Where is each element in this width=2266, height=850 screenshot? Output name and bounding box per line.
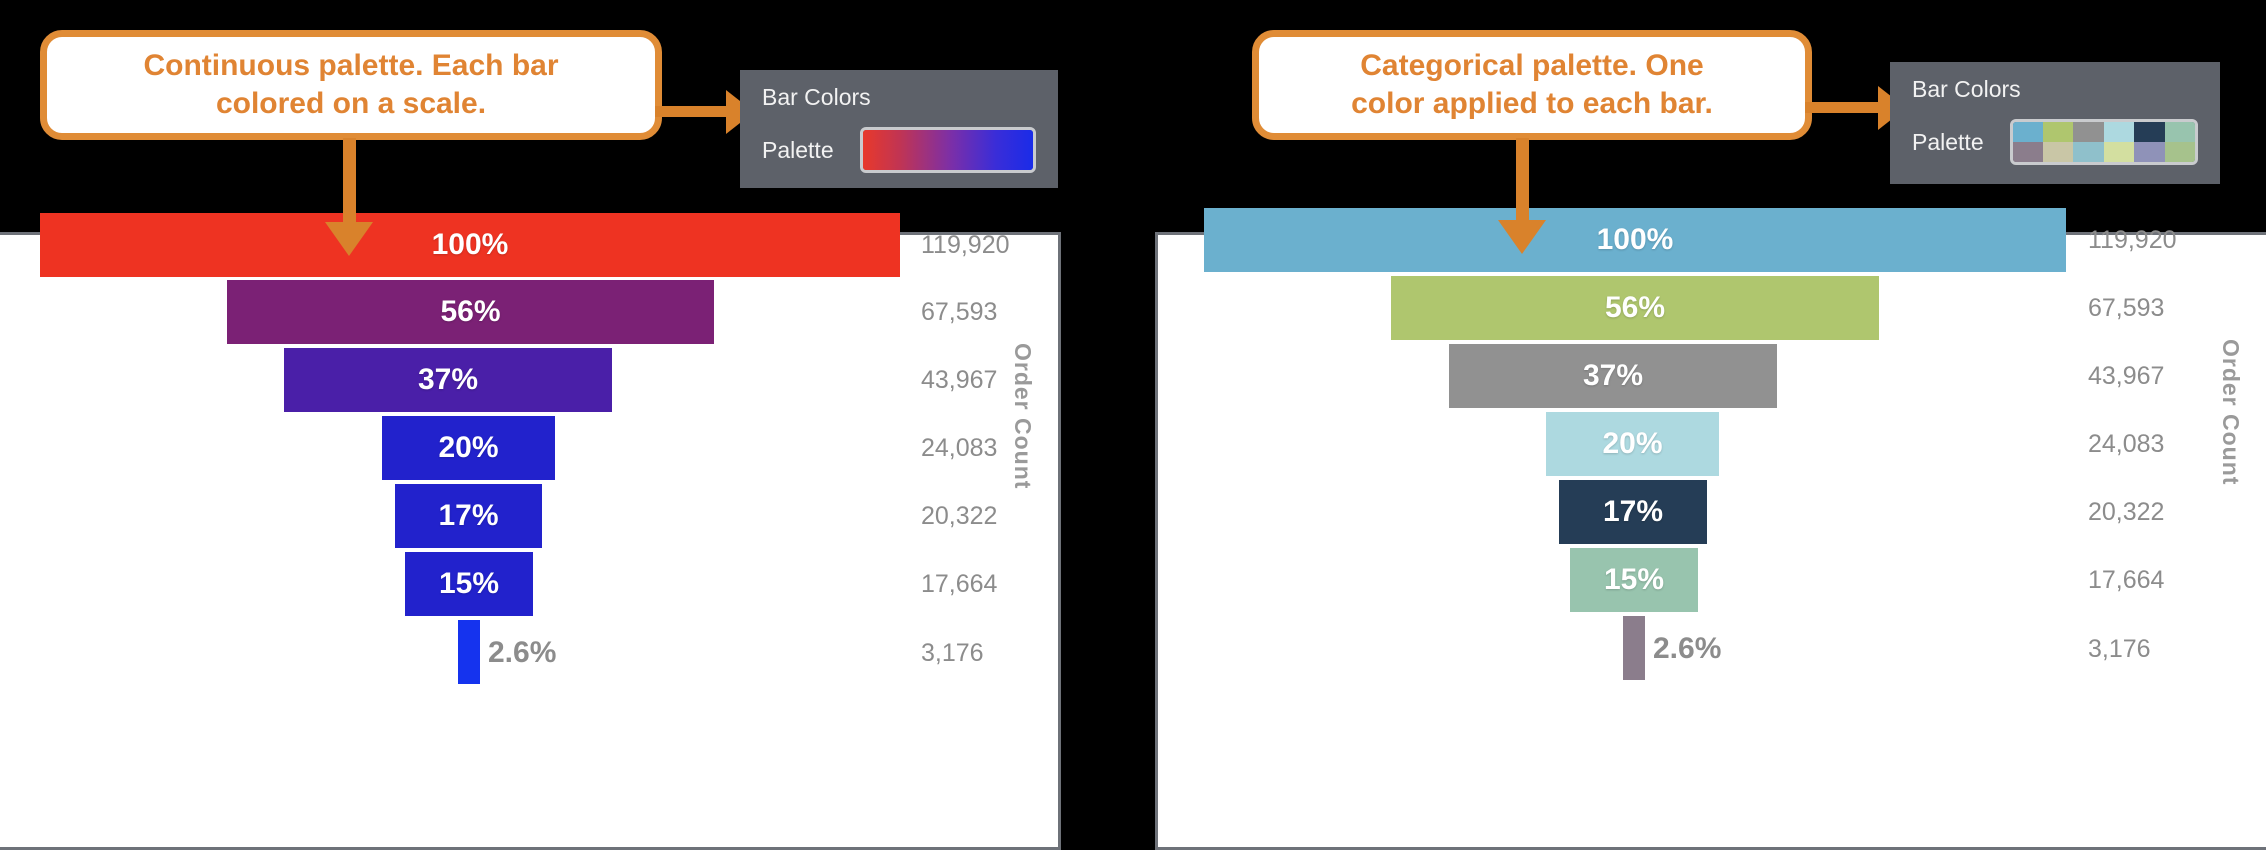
palette-swatch-categorical[interactable] bbox=[2010, 119, 2198, 165]
bar-count-label: 67,593 bbox=[2088, 294, 2164, 323]
swatch-4 bbox=[2104, 122, 2134, 142]
bar-percent-label: 17% bbox=[1603, 495, 1663, 529]
bar-percent-label: 15% bbox=[1604, 563, 1664, 597]
callout-line-2: color applied to each bar. bbox=[1351, 85, 1713, 123]
swatch-6 bbox=[2165, 122, 2195, 142]
bar-7[interactable] bbox=[1623, 616, 1645, 680]
bar-5[interactable]: 17% bbox=[1559, 480, 1707, 544]
funnel-chart-card-categorical: 100% 119,920 56% 67,593 37% 43,967 20% 2… bbox=[1155, 232, 2266, 850]
bar-6[interactable]: 15% bbox=[1570, 548, 1698, 612]
swatch-7 bbox=[2013, 142, 2043, 162]
swatch-2 bbox=[2043, 122, 2073, 142]
bar-4[interactable]: 20% bbox=[1546, 412, 1719, 476]
bar-2[interactable]: 56% bbox=[1391, 276, 1879, 340]
y-axis-title: Order Count bbox=[2217, 339, 2244, 485]
callout-categorical: Categorical palette. One color applied t… bbox=[1252, 30, 1812, 140]
swatch-8 bbox=[2043, 142, 2073, 162]
bar-count-label: 43,967 bbox=[2088, 362, 2164, 391]
bar-percent-label: 37% bbox=[1583, 359, 1643, 393]
bar-count-label: 3,176 bbox=[2088, 635, 2151, 664]
callout-line-1: Categorical palette. One bbox=[1351, 47, 1713, 85]
swatch-12 bbox=[2165, 142, 2195, 162]
bar-count-label: 119,920 bbox=[2088, 226, 2177, 255]
bar-percent-label: 56% bbox=[1605, 291, 1665, 325]
bar-percent-label: 20% bbox=[1602, 427, 1662, 461]
palette-label: Palette bbox=[1912, 129, 1984, 156]
bar-count-label: 24,083 bbox=[2088, 430, 2164, 459]
categorical-swatch-grid bbox=[2013, 122, 2195, 162]
plot-area-categorical: 100% 119,920 56% 67,593 37% 43,967 20% 2… bbox=[1158, 235, 2266, 847]
callout-arrow-down-categorical bbox=[1498, 220, 1546, 254]
callout-connector-categorical bbox=[1805, 102, 1887, 113]
palette-row: Palette bbox=[1912, 119, 2198, 165]
swatch-5 bbox=[2134, 122, 2164, 142]
bar-colors-title: Bar Colors bbox=[1912, 76, 2198, 103]
bar-percent-label: 100% bbox=[1597, 223, 1674, 257]
swatch-3 bbox=[2073, 122, 2103, 142]
bar-3[interactable]: 37% bbox=[1449, 344, 1777, 408]
swatch-1 bbox=[2013, 122, 2043, 142]
bar-count-label: 17,664 bbox=[2088, 566, 2164, 595]
panel-categorical: 100% 119,920 56% 67,593 37% 43,967 20% 2… bbox=[0, 0, 2266, 850]
swatch-11 bbox=[2134, 142, 2164, 162]
bar-colors-panel-categorical: Bar Colors Palette bbox=[1890, 62, 2220, 184]
bar-count-label: 20,322 bbox=[2088, 498, 2164, 527]
swatch-9 bbox=[2073, 142, 2103, 162]
callout-stem-categorical bbox=[1516, 138, 1529, 226]
bar-1[interactable]: 100% bbox=[1204, 208, 2066, 272]
swatch-10 bbox=[2104, 142, 2134, 162]
bar-percent-label-outside: 2.6% bbox=[1653, 632, 1721, 666]
